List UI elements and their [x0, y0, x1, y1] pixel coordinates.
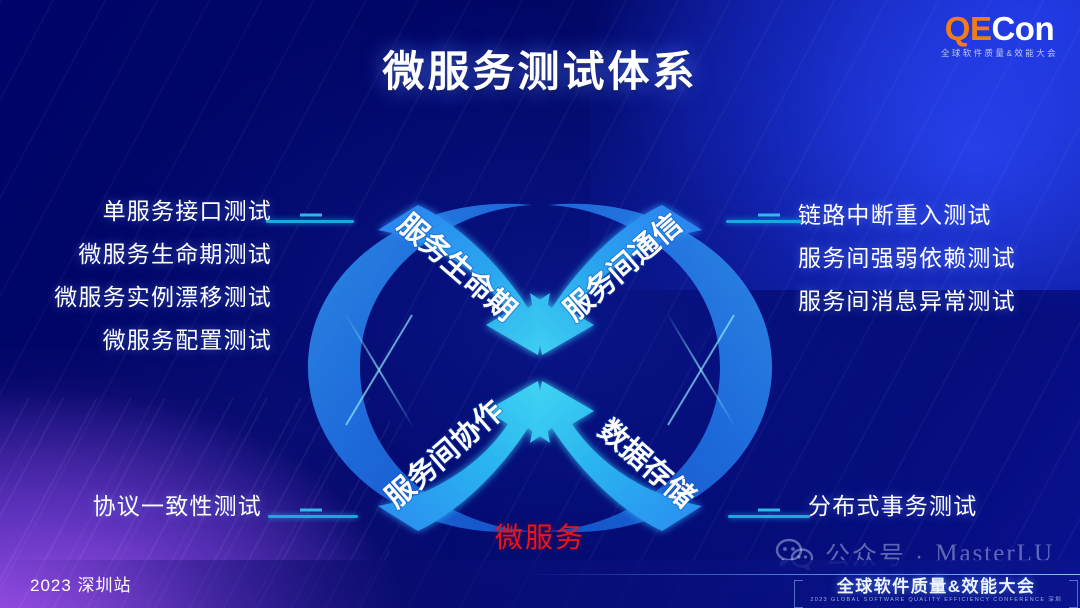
label-item: 单服务接口测试: [10, 200, 272, 223]
right-bottom-label-group: 分布式事务测试: [808, 495, 1070, 518]
label-item: 服务间消息异常测试: [798, 290, 1070, 313]
bracket-left-decoration: [794, 580, 803, 608]
arrow-label-top-right: 服务间通信: [557, 207, 688, 327]
infinity-diagram-svg: 服务生命期 服务间通信 服务间协作 数据存储: [300, 175, 780, 560]
label-item: 链路中断重入测试: [798, 204, 1070, 227]
footer-location-label: 2023 深圳站: [30, 571, 132, 596]
diagram-center-label: 微服务: [300, 516, 780, 556]
label-item: 协议一致性测试: [10, 495, 262, 518]
infinity-diagram: 服务生命期 服务间通信 服务间协作 数据存储 微服务: [300, 175, 780, 560]
slide-canvas: QECon 全球软件质量&效能大会 微服务测试体系 单服务接口测试 微服务生命期…: [0, 0, 1080, 608]
footer-brand-en: 2023 GLOBAL SOFTWARE QUALITY EFFICIENCY …: [810, 598, 1062, 604]
bottom-bar: 2023 深圳站 全球软件质量&效能大会 2023 GLOBAL SOFTWAR…: [0, 560, 1080, 608]
left-top-label-group: 单服务接口测试 微服务生命期测试 微服务实例漂移测试 微服务配置测试: [10, 200, 272, 372]
footer-brand-cn: 全球软件质量&效能大会: [810, 578, 1062, 595]
label-item: 微服务实例漂移测试: [10, 286, 272, 309]
footer-brand: 全球软件质量&效能大会 2023 GLOBAL SOFTWARE QUALITY…: [810, 578, 1062, 604]
label-item: 分布式事务测试: [808, 495, 1070, 518]
label-item: 服务间强弱依赖测试: [798, 247, 1070, 270]
bracket-right-decoration: [1069, 580, 1078, 608]
label-item: 微服务配置测试: [10, 329, 272, 352]
right-top-label-group: 链路中断重入测试 服务间强弱依赖测试 服务间消息异常测试: [798, 204, 1070, 333]
footer-divider-line: [520, 574, 1080, 575]
left-bottom-label-group: 协议一致性测试: [10, 495, 262, 518]
arrow-label-top-left: 服务生命期: [391, 207, 523, 328]
page-title: 微服务测试体系: [0, 38, 1080, 99]
label-item: 微服务生命期测试: [10, 243, 272, 266]
arrow-labels: 服务生命期 服务间通信 服务间协作 数据存储: [379, 207, 701, 515]
